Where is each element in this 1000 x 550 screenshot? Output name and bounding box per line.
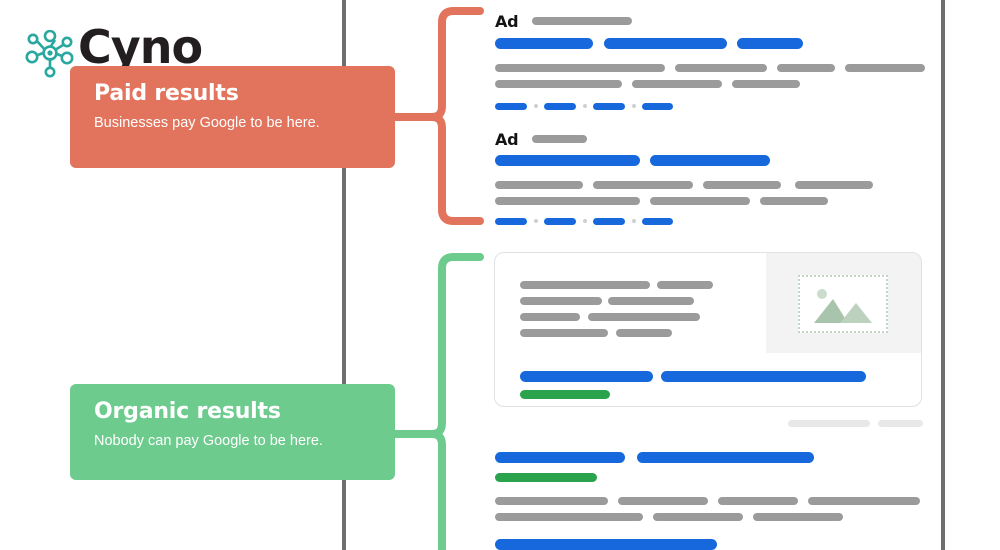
serp-results-column: Ad Ad: [0, 0, 1000, 550]
ad-sitelink[interactable]: [544, 103, 576, 110]
snippet-url: [520, 390, 610, 399]
snippet-title-segment[interactable]: [520, 371, 653, 382]
ad-label: Ad: [495, 12, 518, 31]
snippet-text-segment: [520, 329, 608, 337]
ad-body-segment: [593, 181, 693, 189]
ad-body-segment: [760, 197, 828, 205]
organic-title-segment[interactable]: [637, 452, 814, 463]
snippet-text-segment: [520, 297, 602, 305]
organic-body-segment: [808, 497, 920, 505]
ad-sitelink[interactable]: [495, 103, 527, 110]
snippet-thumbnail: [766, 253, 921, 353]
snippet-text-segment: [608, 297, 694, 305]
image-placeholder-icon: [798, 275, 888, 333]
ad-sitelink[interactable]: [593, 103, 625, 110]
snippet-text-segment: [520, 281, 650, 289]
ad-title-segment[interactable]: [495, 155, 640, 166]
sitelink-separator-dot: [632, 104, 636, 108]
ad-sitelink[interactable]: [495, 218, 527, 225]
ad-title-segment[interactable]: [604, 38, 727, 49]
ad-body-segment: [650, 197, 750, 205]
ad-body-segment: [777, 64, 835, 72]
sitelink-separator-dot: [534, 104, 538, 108]
ad-sitelink[interactable]: [593, 218, 625, 225]
footer-placeholder-bar: [788, 420, 870, 427]
ad-body-segment: [845, 64, 925, 72]
organic-body-segment: [753, 513, 843, 521]
snippet-title-segment[interactable]: [661, 371, 866, 382]
ad-url-placeholder: [532, 135, 587, 143]
ad-body-segment: [732, 80, 800, 88]
footer-placeholder-bar: [878, 420, 923, 427]
organic-body-segment: [495, 513, 643, 521]
organic-body-segment: [495, 497, 608, 505]
ad-url-placeholder: [532, 17, 632, 25]
ad-body-segment: [495, 80, 622, 88]
sitelink-separator-dot: [583, 219, 587, 223]
ad-body-segment: [675, 64, 767, 72]
organic-url: [495, 473, 597, 482]
sitelink-separator-dot: [534, 219, 538, 223]
ad-sitelink[interactable]: [642, 103, 673, 110]
featured-snippet-card[interactable]: [494, 252, 922, 407]
ad-title-segment[interactable]: [737, 38, 803, 49]
ad-sitelink[interactable]: [642, 218, 673, 225]
organic-body-segment: [653, 513, 743, 521]
organic-body-segment: [718, 497, 798, 505]
snippet-text-segment: [588, 313, 700, 321]
ad-body-segment: [703, 181, 781, 189]
snippet-text-segment: [657, 281, 713, 289]
sitelink-separator-dot: [583, 104, 587, 108]
ad-title-segment[interactable]: [495, 38, 593, 49]
ad-body-segment: [495, 181, 583, 189]
ad-body-segment: [495, 64, 665, 72]
organic-title-segment-next[interactable]: [495, 539, 717, 550]
snippet-text-segment: [520, 313, 580, 321]
ad-body-segment: [795, 181, 873, 189]
ad-sitelink[interactable]: [544, 218, 576, 225]
ad-title-segment[interactable]: [650, 155, 770, 166]
ad-body-segment: [632, 80, 722, 88]
organic-body-segment: [618, 497, 708, 505]
ad-body-segment: [495, 197, 640, 205]
diagram-canvas: Cyno Software Paid results Businesses pa…: [0, 0, 1000, 550]
snippet-text-segment: [616, 329, 672, 337]
organic-title-segment[interactable]: [495, 452, 625, 463]
sitelink-separator-dot: [632, 219, 636, 223]
ad-label: Ad: [495, 130, 518, 149]
